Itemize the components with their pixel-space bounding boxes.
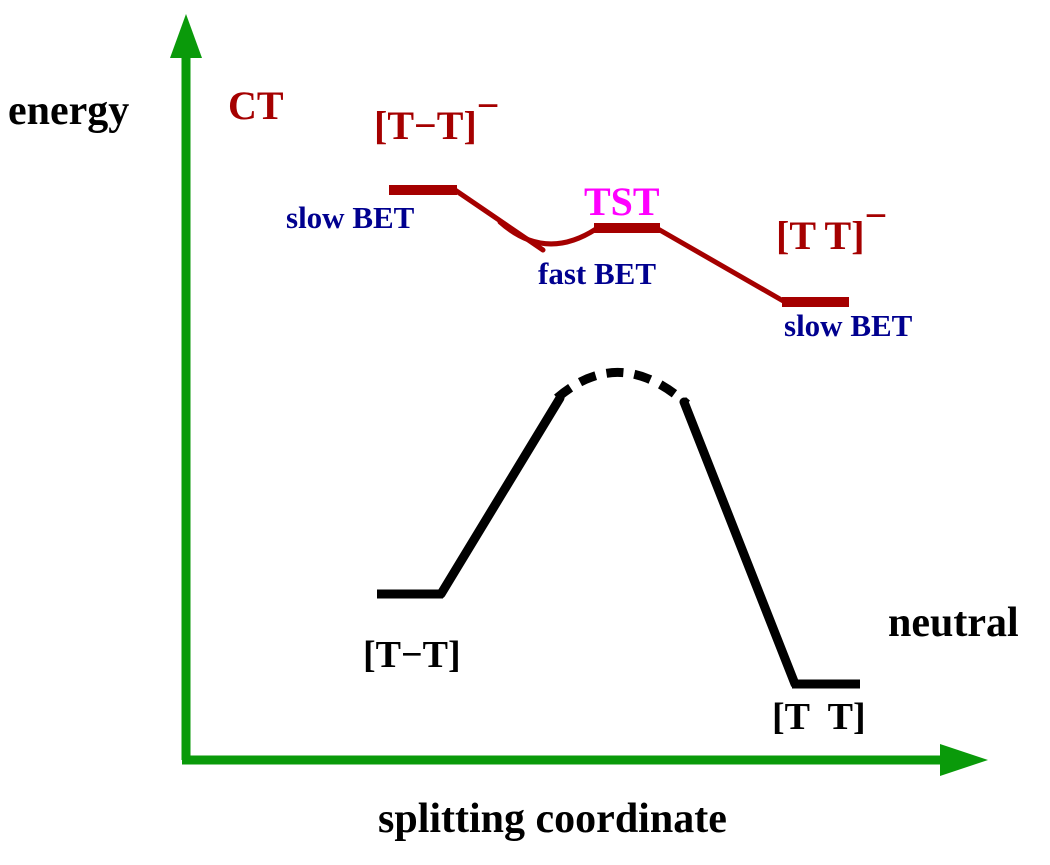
- anion-split-charge-superscript: −: [865, 193, 895, 238]
- energy-diagram-figure: energy splitting coordinate neutral CT […: [0, 0, 1050, 865]
- neutral-rising-limb: [441, 398, 560, 594]
- ct-state-label: CT: [228, 86, 284, 126]
- slow-bet-left-annotation: slow BET: [286, 202, 414, 233]
- anion-bonded-species-label: [T−T]−: [374, 86, 500, 146]
- anion-split-formula: [T T]: [776, 213, 865, 258]
- anion-bonded-formula: [T−T]: [374, 103, 477, 148]
- axes-group: [170, 14, 988, 776]
- fast-bet-annotation: fast BET: [538, 258, 656, 289]
- y-axis-title: energy: [8, 90, 129, 132]
- anion-split-species-label: [T T]−: [776, 196, 895, 256]
- x-axis-arrowhead: [940, 744, 988, 776]
- tst-label: TST: [584, 182, 660, 222]
- neutral-state-label: neutral: [888, 602, 1019, 644]
- diagram-canvas: [0, 0, 1050, 865]
- neutral-split-species-label: [T T]: [772, 698, 866, 736]
- ct-valley-curve: [500, 222, 596, 244]
- ct-connector-right: [658, 229, 785, 302]
- neutral-falling-limb: [684, 402, 795, 684]
- anion-charge-superscript: −: [477, 83, 500, 128]
- y-axis-arrowhead: [170, 14, 202, 58]
- x-axis-title: splitting coordinate: [378, 798, 727, 840]
- neutral-bonded-species-label: [T−T]: [363, 636, 461, 674]
- neutral-barrier-dashed: [557, 372, 687, 404]
- slow-bet-right-annotation: slow BET: [784, 310, 912, 341]
